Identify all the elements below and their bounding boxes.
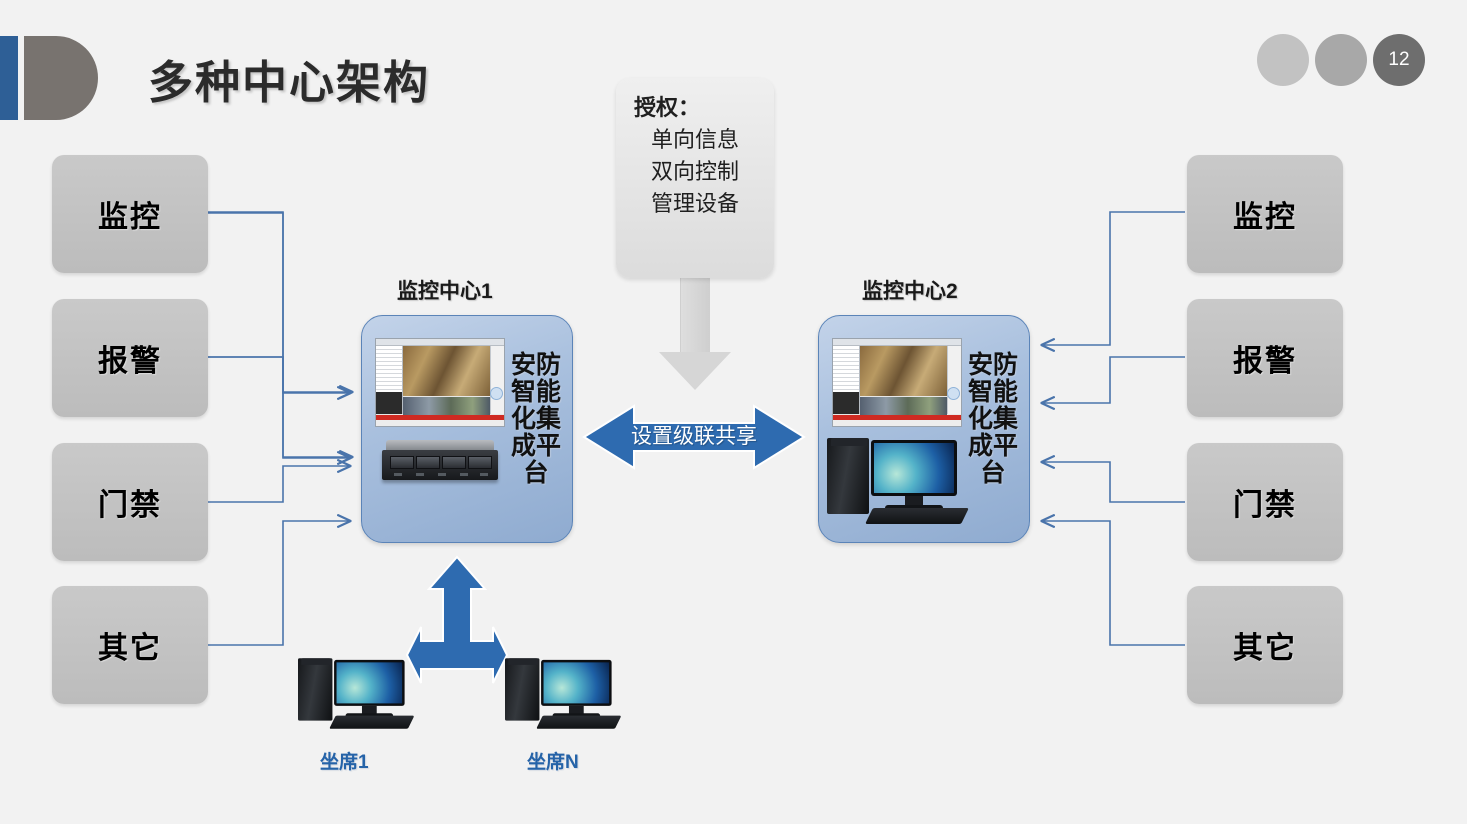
- seat-1-pc-icon: [298, 655, 413, 734]
- center-2-title: 监控中心2: [862, 275, 958, 305]
- source-box-right-2-label: 报警: [1233, 336, 1297, 380]
- seat-n-label: 坐席N: [527, 747, 579, 774]
- surveillance-software-icon-2: [832, 338, 962, 427]
- center-2-platform-label: 安防智能化集成平台: [965, 352, 1021, 487]
- source-box-left-1-label: 监控: [98, 192, 162, 236]
- center-1-platform-label: 安防智能化集成平台: [508, 352, 564, 487]
- source-box-right-1-label: 监控: [1233, 192, 1297, 236]
- source-box-left-3[interactable]: 门禁: [52, 443, 208, 561]
- authorization-arrow-head-icon: [659, 352, 731, 390]
- desktop-pc-icon: [827, 434, 967, 530]
- source-box-right-2[interactable]: 报警: [1187, 299, 1343, 417]
- source-box-left-1[interactable]: 监控: [52, 155, 208, 273]
- seat-n-pc-icon: [505, 655, 620, 734]
- source-box-right-3-label: 门禁: [1233, 480, 1297, 524]
- authorization-arrow-stem: [680, 276, 710, 364]
- source-box-right-3[interactable]: 门禁: [1187, 443, 1343, 561]
- authorization-heading: 授权：: [616, 92, 774, 124]
- surveillance-software-icon: [375, 338, 505, 427]
- source-box-left-3-label: 门禁: [98, 480, 162, 524]
- center-1-platform-box[interactable]: 安防智能化集成平台: [361, 315, 573, 543]
- three-way-arrow-icon: [405, 555, 509, 700]
- source-box-left-4-label: 其它: [98, 623, 162, 667]
- authorization-callout: 授权： 单向信息 双向控制 管理设备: [616, 78, 774, 278]
- slide-canvas: 多种中心架构 12: [0, 0, 1467, 824]
- source-box-left-2[interactable]: 报警: [52, 299, 208, 417]
- authorization-item-3: 管理设备: [616, 188, 774, 220]
- source-box-left-2-label: 报警: [98, 336, 162, 380]
- authorization-item-2: 双向控制: [616, 156, 774, 188]
- source-box-left-4[interactable]: 其它: [52, 586, 208, 704]
- source-box-right-4-label: 其它: [1233, 623, 1297, 667]
- authorization-item-1: 单向信息: [616, 124, 774, 156]
- center-2-platform-box[interactable]: 安防智能化集成平台: [818, 315, 1030, 543]
- seat-1-label: 坐席1: [320, 747, 369, 774]
- source-box-right-1[interactable]: 监控: [1187, 155, 1343, 273]
- center-1-title: 监控中心1: [397, 275, 493, 305]
- rack-server-icon: [382, 440, 498, 484]
- source-box-right-4[interactable]: 其它: [1187, 586, 1343, 704]
- cascade-share-arrow-label: 设置级联共享: [578, 420, 810, 450]
